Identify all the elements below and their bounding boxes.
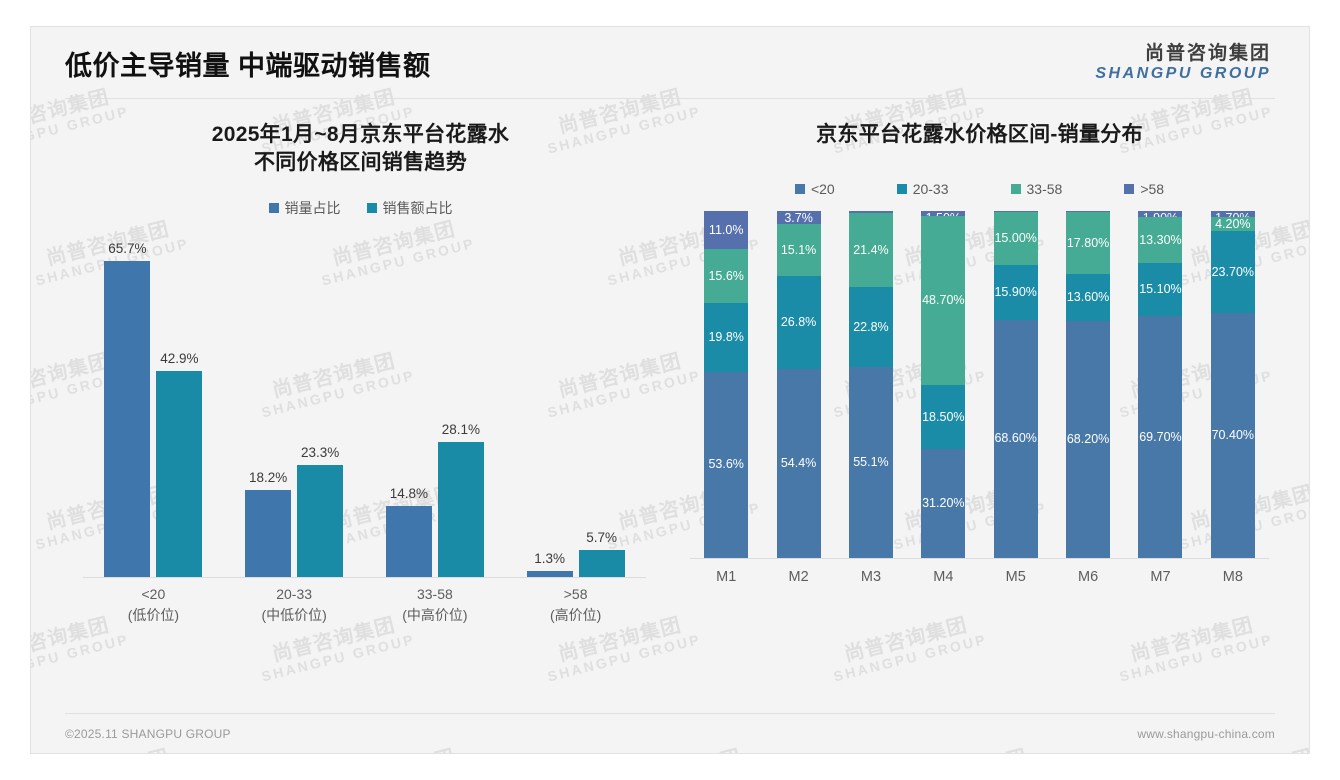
- bar-value-label: 42.9%: [160, 351, 198, 366]
- stack-value-label: 13.60%: [1067, 291, 1109, 304]
- panel-volume-distribution: 京东平台花露水价格区间-销量分布 <2020-3333-58>58 11.0%1…: [670, 99, 1309, 711]
- stack-value-label: 15.00%: [994, 232, 1036, 245]
- stack-segment-20-33-M3[interactable]: 22.8%: [849, 287, 893, 366]
- xaxis-tick-20-33: 20-33(中低价位): [224, 578, 365, 626]
- footer-copyright: ©2025.11 SHANGPU GROUP: [65, 727, 231, 741]
- stacked-column-M2: 3.7%15.1%26.8%54.4%: [762, 211, 834, 558]
- xaxis-tick-sub: (低价位): [83, 605, 224, 626]
- stack-value-label: 19.8%: [708, 331, 743, 344]
- stack-value-label: 48.70%: [922, 294, 964, 307]
- chart-title-left-line2: 不同价格区间销售趋势: [65, 149, 656, 177]
- legend-right: <2020-3333-58>58: [684, 179, 1275, 199]
- stack-value-label: 55.1%: [853, 456, 888, 469]
- bar-销量占比->58[interactable]: [527, 571, 573, 577]
- stack-value-label: 69.70%: [1139, 431, 1181, 444]
- xaxis-tick-sub: (中高价位): [365, 605, 506, 626]
- stack-segment-33-58-M3[interactable]: 21.4%: [849, 213, 893, 287]
- bar-value-label: 18.2%: [249, 470, 287, 485]
- legend-item-right-3[interactable]: >58: [1124, 181, 1164, 197]
- stack-value-label: 3.7%: [784, 212, 813, 225]
- xaxis-tick-M5: M5: [980, 559, 1052, 603]
- stack-segment-20-33-M8[interactable]: 23.70%: [1211, 231, 1255, 313]
- bar-销量占比-20-33[interactable]: [245, 490, 291, 578]
- stack-segment-33-58-M6[interactable]: 17.80%: [1066, 212, 1110, 274]
- stacked-column-M3: 0.7%21.4%22.8%55.1%: [835, 211, 907, 558]
- xaxis-tick-M3: M3: [835, 559, 907, 603]
- stack-segment-33-58-M5[interactable]: 15.00%: [994, 212, 1038, 264]
- stacked-bar-chart: 11.0%15.6%19.8%53.6%3.7%15.1%26.8%54.4%0…: [684, 211, 1275, 603]
- stack-value-label: 15.10%: [1139, 283, 1181, 296]
- bar-column: 65.7%: [104, 226, 150, 577]
- xaxis-tick-sub: (高价位): [505, 605, 646, 626]
- stack-segment-<20-M7[interactable]: 69.70%: [1138, 316, 1182, 558]
- stack-segment-33-58-M2[interactable]: 15.1%: [777, 224, 821, 276]
- grouped-bar-chart: 65.7%42.9%18.2%23.3%14.8%28.1%1.3%5.7% <…: [65, 226, 656, 626]
- bar-group: 1.3%5.7%: [505, 226, 646, 577]
- bar-销售额占比-20-33[interactable]: [297, 465, 343, 577]
- chart-title-right-line1: 京东平台花露水价格区间-销量分布: [816, 123, 1143, 146]
- stack-segment-20-33-M6[interactable]: 13.60%: [1066, 274, 1110, 321]
- stack-value-label: 15.1%: [781, 244, 816, 257]
- stack-value-label: 54.4%: [781, 457, 816, 470]
- footer-website: www.shangpu-china.com: [1137, 727, 1275, 741]
- bar-column: 14.8%: [386, 226, 432, 577]
- legend-swatch-icon: [897, 184, 907, 194]
- stack-segment->58-M1[interactable]: 11.0%: [704, 211, 748, 249]
- legend-swatch-icon: [1124, 184, 1134, 194]
- bar-column: 18.2%: [245, 226, 291, 577]
- stack: 1.90%13.30%15.10%69.70%: [1138, 211, 1182, 558]
- stacked-column-M8: 1.70%4.20%23.70%70.40%: [1197, 211, 1269, 558]
- bar-column: 5.7%: [579, 226, 625, 577]
- stack: 0.40%17.80%13.60%68.20%: [1066, 211, 1110, 558]
- stack: 0.50%15.00%15.90%68.60%: [994, 211, 1038, 558]
- stack-segment-<20-M6[interactable]: 68.20%: [1066, 321, 1110, 558]
- bar-group: 18.2%23.3%: [224, 226, 365, 577]
- legend-item-left-0[interactable]: 销量占比: [269, 198, 341, 218]
- stack-segment-<20-M8[interactable]: 70.40%: [1211, 313, 1255, 557]
- stack-value-label: 4.20%: [1215, 218, 1250, 231]
- panel-sales-trend: 2025年1月~8月京东平台花露水 不同价格区间销售趋势 销量占比销售额占比 6…: [31, 99, 670, 711]
- stack-segment-<20-M3[interactable]: 55.1%: [849, 367, 893, 558]
- stack-value-label: 11.0%: [709, 224, 744, 237]
- legend-label: 33-58: [1027, 181, 1063, 197]
- xaxis-tick-M8: M8: [1197, 559, 1269, 603]
- legend-label: >58: [1140, 181, 1164, 197]
- slide-root: 尚普咨询集团SHANGPU GROUP尚普咨询集团SHANGPU GROUP尚普…: [0, 0, 1340, 780]
- xaxis-tick-M7: M7: [1124, 559, 1196, 603]
- stacked-column-M7: 1.90%13.30%15.10%69.70%: [1124, 211, 1196, 558]
- xaxis-tick-main: <20: [142, 586, 166, 602]
- stack-segment-<20-M4[interactable]: 31.20%: [921, 449, 965, 557]
- bar-value-label: 14.8%: [390, 486, 428, 501]
- legend-item-right-2[interactable]: 33-58: [1011, 181, 1063, 197]
- bar-销量占比-<20[interactable]: [104, 261, 150, 578]
- stack-segment-20-33-M5[interactable]: 15.90%: [994, 265, 1038, 320]
- stack-segment-<20-M5[interactable]: 68.60%: [994, 320, 1038, 558]
- stacked-column-M1: 11.0%15.6%19.8%53.6%: [690, 211, 762, 558]
- xaxis-tick-main: 20-33: [276, 586, 312, 602]
- legend-left: 销量占比销售额占比: [65, 198, 656, 218]
- stack-value-label: 18.50%: [922, 411, 964, 424]
- stack: 1.50%48.70%18.50%31.20%: [921, 211, 965, 558]
- stack-segment-33-58-M1[interactable]: 15.6%: [704, 249, 748, 303]
- bar-value-label: 1.3%: [534, 551, 565, 566]
- legend-swatch-icon: [795, 184, 805, 194]
- legend-swatch-icon: [1011, 184, 1021, 194]
- bar-销售额占比-33-58[interactable]: [438, 442, 484, 577]
- stack-value-label: 26.8%: [781, 316, 816, 329]
- stack-value-label: 68.20%: [1067, 433, 1109, 446]
- legend-item-right-0[interactable]: <20: [795, 181, 835, 197]
- stack-segment-20-33-M1[interactable]: 19.8%: [704, 303, 748, 372]
- slide-header: 低价主导销量 中端驱动销售额 尚普咨询集团 SHANGPU GROUP: [31, 27, 1309, 99]
- stack: 11.0%15.6%19.8%53.6%: [704, 211, 748, 558]
- chart-title-left-line1: 2025年1月~8月京东平台花露水: [212, 123, 509, 146]
- logo-text-cn: 尚普咨询集团: [1095, 43, 1271, 65]
- stack: 0.7%21.4%22.8%55.1%: [849, 211, 893, 558]
- bar-column: 1.3%: [527, 226, 573, 577]
- stack-value-label: 13.30%: [1139, 234, 1181, 247]
- legend-swatch-icon: [269, 203, 279, 213]
- bar-column: 23.3%: [297, 226, 343, 577]
- xaxis-tick-33-58: 33-58(中高价位): [365, 578, 506, 626]
- stacked-column-M5: 0.50%15.00%15.90%68.60%: [980, 211, 1052, 558]
- bar-column: 28.1%: [438, 226, 484, 577]
- stack-segment-33-58-M8[interactable]: 4.20%: [1211, 217, 1255, 232]
- brand-logo: 尚普咨询集团 SHANGPU GROUP: [1095, 43, 1271, 83]
- slide-footer: ©2025.11 SHANGPU GROUP www.shangpu-china…: [65, 713, 1275, 753]
- stack-value-label: 15.6%: [708, 270, 743, 283]
- stack-segment->58-M2[interactable]: 3.7%: [777, 211, 821, 224]
- xaxis-tick-main: >58: [564, 586, 588, 602]
- stack-value-label: 22.8%: [853, 321, 888, 334]
- xaxis-tick-<20: <20(低价位): [83, 578, 224, 626]
- chart-title-left: 2025年1月~8月京东平台花露水 不同价格区间销售趋势: [65, 121, 656, 176]
- stack-value-label: 23.70%: [1212, 266, 1254, 279]
- legend-label: 销量占比: [285, 198, 341, 218]
- xaxis-tick-M6: M6: [1052, 559, 1124, 603]
- bar-销售额占比-<20[interactable]: [156, 371, 202, 578]
- xaxis-tick-M2: M2: [762, 559, 834, 603]
- stack-value-label: 21.4%: [853, 244, 888, 257]
- stack-value-label: 70.40%: [1212, 429, 1254, 442]
- logo-text-en: SHANGPU GROUP: [1095, 65, 1271, 83]
- stacked-bar-xaxis: M1M2M3M4M5M6M7M8: [690, 559, 1269, 603]
- legend-label: <20: [811, 181, 835, 197]
- stack-segment-33-58-M4[interactable]: 48.70%: [921, 216, 965, 385]
- stack-segment-33-58-M7[interactable]: 13.30%: [1138, 217, 1182, 263]
- grouped-bar-plot: 65.7%42.9%18.2%23.3%14.8%28.1%1.3%5.7%: [83, 226, 646, 578]
- stacked-column-M4: 1.50%48.70%18.50%31.20%: [907, 211, 979, 558]
- stack-value-label: 53.6%: [708, 458, 743, 471]
- bar-group: 65.7%42.9%: [83, 226, 224, 577]
- charts-area: 2025年1月~8月京东平台花露水 不同价格区间销售趋势 销量占比销售额占比 6…: [31, 99, 1309, 711]
- legend-label: 销售额占比: [383, 198, 453, 218]
- bar-value-label: 28.1%: [442, 422, 480, 437]
- bar-销售额占比->58[interactable]: [579, 550, 625, 577]
- xaxis-tick-main: 33-58: [417, 586, 453, 602]
- stack-segment-20-33-M4[interactable]: 18.50%: [921, 385, 965, 449]
- xaxis-tick-M4: M4: [907, 559, 979, 603]
- bar-column: 42.9%: [156, 226, 202, 577]
- bar-value-label: 23.3%: [301, 445, 339, 460]
- legend-item-left-1[interactable]: 销售额占比: [367, 198, 453, 218]
- xaxis-tick-M1: M1: [690, 559, 762, 603]
- grouped-bar-xaxis: <20(低价位)20-33(中低价位)33-58(中高价位)>58(高价位): [83, 578, 646, 626]
- stack-segment->58-M7[interactable]: 1.90%: [1138, 211, 1182, 218]
- stack-segment-<20-M1[interactable]: 53.6%: [704, 372, 748, 558]
- stack-value-label: 68.60%: [994, 432, 1036, 445]
- stack-segment-20-33-M2[interactable]: 26.8%: [777, 276, 821, 369]
- stack-segment-<20-M2[interactable]: 54.4%: [777, 369, 821, 558]
- xaxis-tick->58: >58(高价位): [505, 578, 646, 626]
- stack-value-label: 31.20%: [922, 497, 964, 510]
- stack-value-label: 17.80%: [1067, 237, 1109, 250]
- bar-value-label: 65.7%: [108, 241, 146, 256]
- legend-item-right-1[interactable]: 20-33: [897, 181, 949, 197]
- page-title: 低价主导销量 中端驱动销售额: [65, 44, 431, 83]
- legend-swatch-icon: [367, 203, 377, 213]
- chart-title-right: 京东平台花露水价格区间-销量分布: [684, 121, 1275, 149]
- slide-frame: 尚普咨询集团SHANGPU GROUP尚普咨询集团SHANGPU GROUP尚普…: [30, 26, 1310, 754]
- bar-value-label: 5.7%: [586, 530, 617, 545]
- stack-value-label: 15.90%: [994, 286, 1036, 299]
- bar-group: 14.8%28.1%: [365, 226, 506, 577]
- stack: 3.7%15.1%26.8%54.4%: [777, 211, 821, 558]
- stack-segment-20-33-M7[interactable]: 15.10%: [1138, 263, 1182, 315]
- bar-销量占比-33-58[interactable]: [386, 506, 432, 577]
- xaxis-tick-sub: (中低价位): [224, 605, 365, 626]
- legend-label: 20-33: [913, 181, 949, 197]
- stacked-column-M6: 0.40%17.80%13.60%68.20%: [1052, 211, 1124, 558]
- stacked-bar-plot: 11.0%15.6%19.8%53.6%3.7%15.1%26.8%54.4%0…: [690, 211, 1269, 559]
- stack: 1.70%4.20%23.70%70.40%: [1211, 211, 1255, 558]
